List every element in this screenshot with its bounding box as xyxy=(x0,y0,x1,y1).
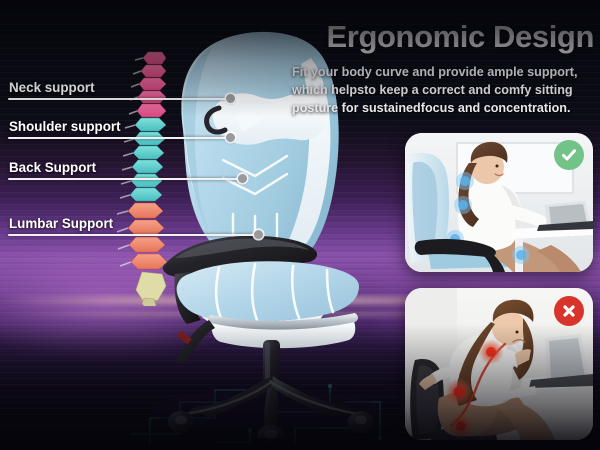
check-icon xyxy=(554,140,584,170)
vignette-overlay xyxy=(0,0,600,450)
cross-icon xyxy=(554,296,584,326)
promo-image: Neck support Shoulder support Back Suppo… xyxy=(0,0,600,450)
